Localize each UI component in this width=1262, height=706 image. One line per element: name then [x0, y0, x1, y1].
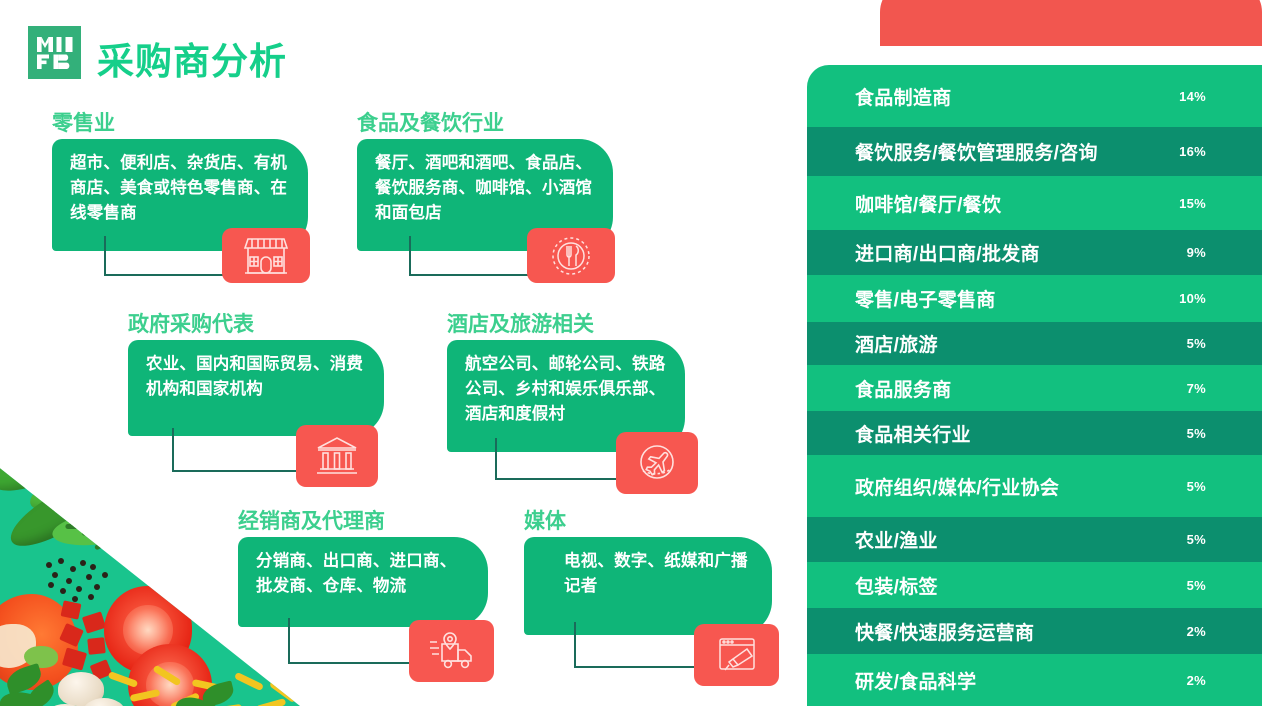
page-title: 采购商分析	[97, 31, 287, 85]
stat-row[interactable]: 食品制造商 14%	[807, 65, 1262, 127]
stat-row[interactable]: 包装/标签 5%	[807, 562, 1262, 608]
stat-row[interactable]: 酒店/旅游 5%	[807, 322, 1262, 365]
red-accent-tab	[880, 0, 1262, 46]
stat-value: 5%	[1187, 426, 1206, 441]
card-body-government: 农业、国内和国际贸易、消费机构和国家机构	[128, 340, 384, 436]
storefront-icon	[222, 228, 310, 283]
stat-row[interactable]: 食品相关行业 5%	[807, 411, 1262, 455]
stat-label: 咖啡馆/餐厅/餐饮	[855, 190, 1001, 217]
stats-panel: 食品制造商 14% 餐饮服务/餐饮管理服务/咨询 16% 咖啡馆/餐厅/餐饮 1…	[807, 65, 1262, 706]
stat-row[interactable]: 零售/电子零售商 10%	[807, 275, 1262, 322]
stat-row[interactable]: 研发/食品科学 2%	[807, 654, 1262, 706]
stat-value: 16%	[1179, 144, 1206, 159]
stat-label: 餐饮服务/餐饮管理服务/咨询	[855, 138, 1098, 165]
bank-building-icon	[296, 425, 378, 487]
card-title-distributors: 经销商及代理商	[238, 505, 385, 535]
stat-label: 酒店/旅游	[855, 330, 938, 357]
stats-list: 食品制造商 14% 餐饮服务/餐饮管理服务/咨询 16% 咖啡馆/餐厅/餐饮 1…	[807, 65, 1262, 706]
stat-row[interactable]: 餐饮服务/餐饮管理服务/咨询 16%	[807, 127, 1262, 176]
mifb-logo	[28, 26, 81, 79]
delivery-truck-icon	[409, 620, 494, 682]
stat-label: 包装/标签	[855, 572, 938, 599]
stat-value: 2%	[1187, 673, 1206, 688]
stat-label: 食品服务商	[855, 375, 952, 402]
card-title-media: 媒体	[524, 505, 566, 535]
stat-label: 零售/电子零售商	[855, 285, 996, 312]
card-title-food-beverage: 食品及餐饮行业	[357, 107, 504, 137]
stat-label: 政府组织/媒体/行业协会	[855, 473, 1059, 500]
stat-row[interactable]: 政府组织/媒体/行业协会 5%	[807, 455, 1262, 517]
stat-row[interactable]: 进口商/出口商/批发商 9%	[807, 230, 1262, 275]
stat-label: 食品相关行业	[855, 420, 971, 447]
stat-value: 10%	[1179, 291, 1206, 306]
airplane-globe-icon	[616, 432, 698, 494]
megaphone-browser-icon	[694, 624, 779, 686]
stat-value: 5%	[1187, 578, 1206, 593]
stat-row[interactable]: 快餐/快速服务运营商 2%	[807, 608, 1262, 654]
slide-root: 采购商分析 零售业 超市、便利店、杂货店、有机商店、美食或特色零售商、在线零售商…	[0, 0, 1262, 706]
card-body-distributors: 分销商、出口商、进口商、批发商、仓库、物流	[238, 537, 488, 627]
plate-cutlery-icon	[527, 228, 615, 283]
stat-label: 进口商/出口商/批发商	[855, 239, 1040, 266]
stat-label: 快餐/快速服务运营商	[855, 618, 1034, 645]
stat-value: 5%	[1187, 532, 1206, 547]
stat-value: 2%	[1187, 624, 1206, 639]
card-title-government: 政府采购代表	[128, 308, 254, 338]
stat-value: 15%	[1179, 196, 1206, 211]
card-body-media: 电视、数字、纸媒和广播记者	[524, 537, 772, 635]
stat-label: 研发/食品科学	[855, 667, 976, 694]
stat-label: 食品制造商	[855, 83, 952, 110]
stat-value: 5%	[1187, 336, 1206, 351]
stat-value: 5%	[1187, 479, 1206, 494]
stat-row[interactable]: 咖啡馆/餐厅/餐饮 15%	[807, 176, 1262, 230]
card-title-retail: 零售业	[52, 107, 115, 137]
stat-value: 14%	[1179, 89, 1206, 104]
stat-value: 7%	[1187, 381, 1206, 396]
stat-row[interactable]: 农业/渔业 5%	[807, 517, 1262, 562]
stat-value: 9%	[1187, 245, 1206, 260]
card-title-hospitality-travel: 酒店及旅游相关	[447, 308, 594, 338]
stat-row[interactable]: 食品服务商 7%	[807, 365, 1262, 411]
stat-label: 农业/渔业	[855, 526, 938, 553]
